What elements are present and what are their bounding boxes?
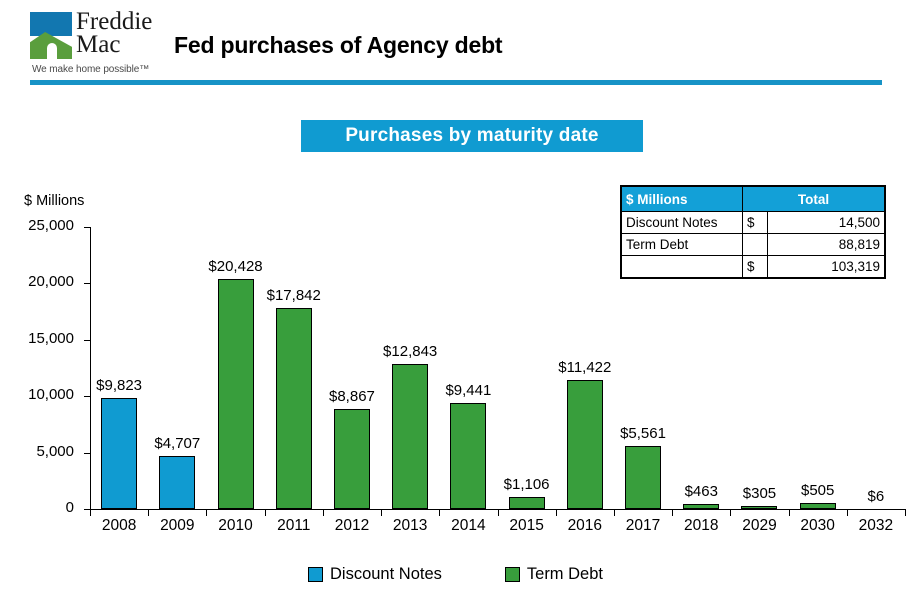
y-axis-tick-label: 0: [2, 499, 74, 516]
y-axis-tick-label: 20,000: [2, 273, 74, 290]
section-banner-label: Purchases by maturity date: [345, 125, 598, 147]
x-axis-tick-mark: [439, 509, 440, 516]
header-divider: [30, 80, 882, 85]
x-axis-label-2032: 2032: [847, 517, 905, 535]
bar-2009: [159, 456, 195, 509]
page-header: Freddie Mac We make home possible™ Fed p…: [0, 0, 911, 92]
y-axis-tick-mark: [84, 396, 90, 397]
bar-2011: [276, 308, 312, 509]
y-axis-tick-mark: [84, 227, 90, 228]
bar-value-label-2014: $9,441: [423, 382, 513, 399]
x-axis-label-2018: 2018: [672, 517, 730, 535]
logo-word-line1: Freddie: [76, 10, 171, 33]
bar-value-label-2032: $6: [831, 488, 911, 505]
x-axis-tick-mark: [672, 509, 673, 516]
bar-value-label-2010: $20,428: [191, 258, 281, 275]
bar-value-label-2015: $1,106: [482, 476, 572, 493]
y-axis-tick-label: 5,000: [2, 443, 74, 460]
x-axis-tick-mark: [206, 509, 207, 516]
logo-door-shape: [47, 43, 57, 59]
x-axis-tick-mark: [730, 509, 731, 516]
y-axis-tick-mark: [84, 340, 90, 341]
bar-2015: [509, 497, 545, 509]
x-axis-label-2014: 2014: [439, 517, 497, 535]
legend-label-discount-notes: Discount Notes: [330, 565, 442, 584]
x-axis-label-2030: 2030: [789, 517, 847, 535]
bar-2010: [218, 279, 254, 509]
chart-legend: Discount Notes Term Debt: [0, 560, 911, 588]
y-axis-tick-mark: [84, 453, 90, 454]
x-axis-tick-mark: [381, 509, 382, 516]
bar-2016: [567, 380, 603, 509]
bar-2008: [101, 398, 137, 509]
bar-value-label-2009: $4,707: [132, 435, 222, 452]
y-axis-tick-label: 10,000: [2, 386, 74, 403]
x-axis-label-2016: 2016: [556, 517, 614, 535]
logo-word-line2: Mac: [76, 33, 171, 56]
x-axis-tick-mark: [847, 509, 848, 516]
x-axis-tick-mark: [148, 509, 149, 516]
legend-swatch-term-debt: [505, 567, 520, 582]
section-banner: Purchases by maturity date: [301, 120, 643, 152]
logo-blue-square: [30, 12, 72, 36]
bar-2029: [741, 506, 777, 509]
x-axis-tick-mark: [556, 509, 557, 516]
bar-value-label-2011: $17,842: [249, 287, 339, 304]
x-axis-label-2012: 2012: [323, 517, 381, 535]
y-axis-tick-label: 15,000: [2, 330, 74, 347]
bar-value-label-2013: $12,843: [365, 343, 455, 360]
bar-2018: [683, 504, 719, 509]
freddie-mac-house-icon: [30, 12, 72, 59]
bar-2014: [450, 403, 486, 509]
legend-item-term-debt: Term Debt: [505, 565, 603, 584]
bar-2012: [334, 409, 370, 509]
x-axis-label-2011: 2011: [265, 517, 323, 535]
x-axis-label-2013: 2013: [381, 517, 439, 535]
x-axis-label-2015: 2015: [498, 517, 556, 535]
bar-value-label-2008: $9,823: [74, 377, 164, 394]
x-axis-label-2008: 2008: [90, 517, 148, 535]
x-axis-tick-mark: [498, 509, 499, 516]
legend-label-term-debt: Term Debt: [527, 565, 603, 584]
legend-item-discount-notes: Discount Notes: [308, 565, 442, 584]
bar-value-label-2012: $8,867: [307, 388, 397, 405]
x-axis-tick-mark: [789, 509, 790, 516]
logo-wordmark: Freddie Mac: [76, 10, 171, 56]
x-axis-tick-mark: [323, 509, 324, 516]
page-title: Fed purchases of Agency debt: [174, 32, 502, 59]
x-axis-tick-mark: [265, 509, 266, 516]
legend-swatch-discount-notes: [308, 567, 323, 582]
x-axis-label-2029: 2029: [730, 517, 788, 535]
x-axis-label-2010: 2010: [207, 517, 265, 535]
logo-tagline: We make home possible™: [32, 64, 149, 75]
freddie-mac-logo: Freddie Mac We make home possible™: [30, 12, 160, 74]
y-axis-tick-labels: 25,00020,00015,00010,0005,0000: [2, 185, 74, 515]
x-axis-label-2017: 2017: [614, 517, 672, 535]
y-axis-tick-label: 25,000: [2, 217, 74, 234]
y-axis-tick-mark: [84, 283, 90, 284]
bar-value-label-2017: $5,561: [598, 425, 688, 442]
x-axis-tick-mark: [90, 509, 91, 516]
bar-value-label-2016: $11,422: [540, 359, 630, 376]
bar-chart: $ Millions 25,00020,00015,00010,0005,000…: [0, 185, 911, 545]
x-axis-tick-mark: [905, 509, 906, 516]
x-axis-tick-mark: [614, 509, 615, 516]
x-axis-label-2009: 2009: [148, 517, 206, 535]
